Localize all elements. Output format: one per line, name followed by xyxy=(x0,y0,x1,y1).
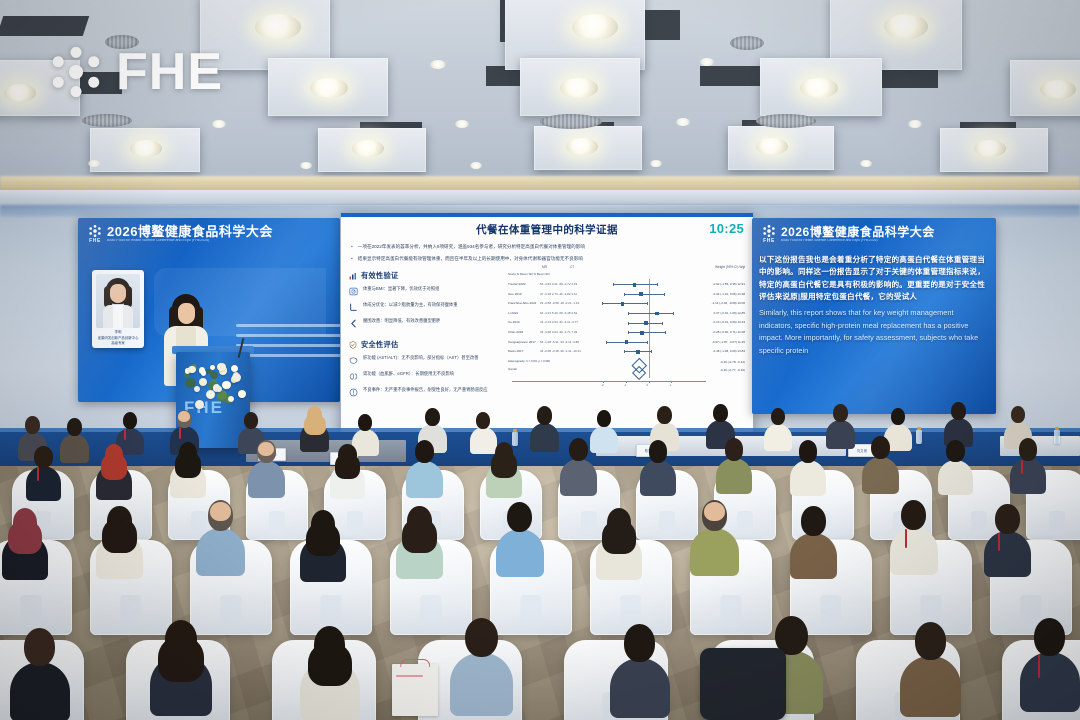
audience-head xyxy=(624,624,655,662)
audience-torso xyxy=(248,461,285,498)
audience-member xyxy=(2,508,48,578)
forest-point-estimate xyxy=(644,321,648,325)
audience-torso xyxy=(496,529,544,577)
flower-bloom xyxy=(195,400,204,409)
left-screen-header: FHE 2026博鳌健康食品科学大会 Boao Food for Health … xyxy=(78,218,340,248)
audience-torso xyxy=(690,528,739,577)
efficacy-item-3: 腰围改善：明显降低，有效改善腹型肥胖 xyxy=(349,318,501,328)
bullet-item: ▪ 一项在2022年发表的荟萃分析，共纳入9项研究，涵盖934名参与者，研究分析… xyxy=(351,243,743,251)
safety-item-text: 肾功能（血肌酐、eGFR）：长期使用无不良影响 xyxy=(363,371,454,377)
speaker-name: 李明 xyxy=(92,330,144,335)
forest-effect-value: 0.37 (-0.91, 1.09) 12.85 xyxy=(714,311,745,315)
audience-head xyxy=(24,628,55,666)
chair-sash xyxy=(420,595,441,627)
forest-study-values: 33 -3.68 3.94 -30 -3.71 7.49 xyxy=(540,330,577,334)
audience-member xyxy=(170,442,206,497)
efficacy-item-text: 腰围改善：明显降低，有效改善腹型肥胖 xyxy=(363,318,440,324)
audience-torso xyxy=(406,461,443,498)
long-hair xyxy=(158,636,204,682)
conference-title: 2026博鳌健康食品科学大会 xyxy=(107,225,273,239)
audience-head xyxy=(1034,618,1065,656)
audience-member xyxy=(790,506,837,577)
audience-torso xyxy=(10,662,70,720)
forest-ci-cap xyxy=(602,302,603,305)
chair-sash xyxy=(520,595,541,627)
audience-head xyxy=(657,406,672,424)
audience-head xyxy=(995,504,1019,534)
audience-member xyxy=(690,500,739,574)
audience-head xyxy=(358,414,372,431)
long-hair xyxy=(491,451,518,478)
long-hair xyxy=(175,451,202,478)
forest-study-values: 64 -4.31 5.40 -60 -3.48 4.51 xyxy=(540,311,577,315)
forest-ci-cap xyxy=(651,350,652,353)
long-hair xyxy=(102,518,137,553)
kidney-icon xyxy=(349,372,358,381)
speaker-affiliation-2: 高级专家 xyxy=(92,341,144,346)
flower-arrangement xyxy=(184,358,246,406)
forest-axis-tick-label: 0 xyxy=(647,383,649,387)
flower-bloom xyxy=(201,370,206,375)
audience-member xyxy=(900,622,961,714)
audience-member xyxy=(60,418,89,461)
forest-axis-tick-label: -1 xyxy=(624,383,627,387)
audience-head xyxy=(1019,438,1038,461)
speaker-portrait xyxy=(96,274,140,328)
safety-item-text: 肝功能 (AST/ALT)：无不良影响，部分指标（AST）甚至改善 xyxy=(363,355,478,361)
audience-torso xyxy=(560,459,597,496)
long-hair xyxy=(402,518,437,553)
audience-torso xyxy=(450,653,513,716)
watermark-text: FHE xyxy=(116,46,223,98)
audience-member xyxy=(330,444,365,497)
forest-ci-cap xyxy=(613,283,614,286)
audience-member xyxy=(26,446,61,499)
tote-label xyxy=(396,675,424,677)
forest-ci-cap xyxy=(662,322,663,325)
forest-effect-value: -1.14 (-2.06, -0.08) 10.06 xyxy=(712,301,745,305)
forest-point-estimate xyxy=(625,340,629,344)
forest-ci-cap xyxy=(647,341,648,344)
forest-effect-value: -0.62 (-1.55, 0.35) 12.91 xyxy=(713,282,745,286)
forest-ci-cap xyxy=(606,341,607,344)
forest-ci-cap xyxy=(624,350,625,353)
fhe-watermark: FHE xyxy=(48,44,223,100)
audience-member xyxy=(10,628,70,719)
section-title: 有效性验证 xyxy=(361,271,398,281)
audience-member xyxy=(530,406,559,451)
chair-sash xyxy=(120,595,141,627)
long-hair xyxy=(308,642,352,686)
audience-member xyxy=(984,504,1031,575)
forest-study-label: Guo 2019 xyxy=(508,292,522,296)
audience-member xyxy=(890,500,938,573)
audience-head xyxy=(951,402,966,420)
audience-member xyxy=(300,406,329,451)
caption-english: Similarly, this report shows that for ke… xyxy=(759,307,989,357)
waist-icon xyxy=(349,319,358,328)
audience-head xyxy=(34,446,52,468)
forest-effect-value: -0.48 (-1.08, 0.09) 13.84 xyxy=(713,349,745,353)
efficacy-item-1: 体重与BMI：显著下降，优效优于对照组 xyxy=(349,286,501,296)
efficacy-item-text: 体重与BMI：显著下降，优效优于对照组 xyxy=(363,286,439,292)
safety-item-3: 不良事件：无严重不良事件报告，耐受性良好，无严重胃肠道反应 xyxy=(349,387,501,397)
audience-torso xyxy=(790,460,826,496)
audience-head xyxy=(597,410,611,427)
audience-member xyxy=(406,440,443,496)
audience-head xyxy=(771,408,785,425)
audience-torso xyxy=(764,424,792,452)
audience-head xyxy=(123,412,137,429)
lanyard xyxy=(905,529,907,548)
forest-point-estimate xyxy=(655,312,659,316)
forest-summary-label: Heterogeneity: I² = 0.0%, p = 0.590 xyxy=(508,360,550,363)
conference-photo: FHE 2026博鳌健康食品科学大会 Boao Food for Health … xyxy=(0,0,1080,720)
slide-top-accent xyxy=(341,213,753,217)
chair-sash xyxy=(620,595,641,627)
audience-member xyxy=(1010,438,1046,493)
audience-member xyxy=(96,506,143,577)
forest-axis-tick xyxy=(649,381,650,383)
safety-item-2: 肾功能（血肌酐、eGFR）：长期使用无不良影响 xyxy=(349,371,501,381)
flower-bloom xyxy=(199,378,207,386)
scale-icon xyxy=(349,287,358,296)
forest-confidence-interval xyxy=(628,332,665,333)
forest-study-values: 22 -0.58 -0.58 -18 -0.21 -1.14 xyxy=(540,301,579,305)
bald-crown xyxy=(210,502,231,521)
audience-member xyxy=(96,444,132,499)
shield-icon xyxy=(349,341,357,349)
audience-head xyxy=(801,506,825,536)
forest-effect-value: -0.34 (-1.10, 0.66) 13.38 xyxy=(713,292,745,296)
audience-member xyxy=(716,438,752,493)
long-hair xyxy=(335,453,361,479)
bullet-dot-icon: ▪ xyxy=(351,255,353,263)
chair-sash xyxy=(347,511,363,535)
chair-sash xyxy=(737,511,753,535)
forest-group-header: MR xyxy=(542,265,547,269)
forest-study-values: 54 -4.54 3.21 -50 -2.72 4.19 xyxy=(540,282,577,286)
speaker-card: 李明 雀巢研发创新产品创新中心 高级专家 xyxy=(92,270,144,348)
forest-study-label: Vongsarpanon 2017 xyxy=(508,340,536,344)
fhe-logo-text: FHE xyxy=(763,239,775,244)
audience-torso xyxy=(716,458,752,494)
bullet-text: 结果显示特定高蛋白代餐能有效管理体重，而且在半年及以上的长期使用中，对身体代谢和… xyxy=(358,255,583,263)
audience-member xyxy=(764,408,792,450)
forest-ci-cap xyxy=(673,312,674,315)
bald-crown xyxy=(704,502,725,521)
audience-torso xyxy=(530,423,559,452)
audience-head xyxy=(946,440,964,462)
flower-bloom xyxy=(238,390,247,399)
bottle-cap xyxy=(917,427,921,430)
forest-point-estimate xyxy=(639,292,643,296)
forest-axis-tick-label: 1 xyxy=(669,383,671,387)
long-hair xyxy=(101,453,128,480)
forest-axis-tick-label: -2 xyxy=(601,383,604,387)
liver-icon xyxy=(349,356,358,365)
chair-sash xyxy=(220,595,241,627)
forest-study-label: Treolar 2020 xyxy=(508,282,525,286)
forest-point-estimate xyxy=(640,331,644,335)
audience-head xyxy=(425,408,440,426)
forest-ci-cap xyxy=(665,331,666,334)
audience-member xyxy=(944,402,973,445)
audience-torso xyxy=(984,531,1031,578)
conference-subtitle: Boao Food for Health Science Conference … xyxy=(107,239,273,243)
audience-member xyxy=(450,618,513,713)
bottle-cap xyxy=(513,429,517,432)
forest-ci-cap xyxy=(628,312,629,315)
audience-member xyxy=(196,500,245,574)
forest-summary-value: -0.46 (-0.78, -0.14) xyxy=(720,360,745,364)
efficacy-item-text: 体成分优化：以减少脂肪量为主，有效保持瘦体重 xyxy=(363,302,458,308)
forest-effect-value: -0.97 (-1.87, -0.07) 11.45 xyxy=(712,340,745,344)
audience-member xyxy=(486,442,522,497)
slide-title: 代餐在体重管理中的科学证据 xyxy=(341,222,753,237)
audience-member xyxy=(640,440,676,495)
audience-member xyxy=(300,510,346,580)
audience-head xyxy=(649,440,668,463)
audience-member xyxy=(560,438,597,494)
audience-member xyxy=(496,502,544,575)
flower-bloom xyxy=(232,373,241,382)
forest-effect-header: Weight (95% CI) Wgt xyxy=(715,265,745,269)
forest-axis xyxy=(512,381,706,382)
bottle-cap xyxy=(1055,427,1059,430)
bullet-dot-icon: ▪ xyxy=(351,243,353,251)
flower-bloom xyxy=(217,363,226,372)
audience-torso xyxy=(196,528,245,577)
audience-member xyxy=(1020,618,1080,709)
audience-torso xyxy=(1010,458,1046,494)
speaker-bio-text xyxy=(236,324,340,364)
flower-bloom xyxy=(206,390,215,399)
section-header-safety: 安全性评估 xyxy=(349,340,501,350)
live-caption-area: 以下这份报告我也是会着重分析了特定的高蛋白代餐在体重管理当中的影响。同样这一份报… xyxy=(752,254,996,357)
audience-head xyxy=(244,412,258,429)
audience-member xyxy=(150,620,212,714)
audience-torso xyxy=(26,466,61,501)
flower-bloom xyxy=(188,366,196,374)
forest-confidence-interval xyxy=(628,313,674,314)
chair-sash xyxy=(820,595,841,627)
flower-bloom xyxy=(231,365,238,372)
audience-head xyxy=(465,618,498,657)
forest-ci-cap xyxy=(624,293,625,296)
forest-study-values: 41 -2.08 -3.18 -30 -1.41 -10.41 xyxy=(540,349,581,353)
water-bottle xyxy=(1054,430,1060,444)
chair-sash xyxy=(20,595,41,627)
forest-study-label: Franchina Albo 2022 xyxy=(508,301,536,305)
audience-torso xyxy=(890,527,938,575)
forest-ci-cap xyxy=(664,293,665,296)
caption-chinese: 以下这份报告我也是会着重分析了特定的高蛋白代餐在体重管理当中的影响。同样这一份报… xyxy=(759,254,989,303)
forest-ci-cap xyxy=(657,283,658,286)
audience-head xyxy=(569,438,588,461)
audience-torso xyxy=(60,434,89,463)
audience-member xyxy=(610,624,670,715)
audience-member xyxy=(596,508,642,578)
backpack xyxy=(700,648,786,720)
audience-head xyxy=(901,500,926,530)
audience-head xyxy=(833,404,848,422)
bullet-item: ▪ 结果显示特定高蛋白代餐能有效管理体重，而且在半年及以上的长期使用中，对身体代… xyxy=(351,255,743,263)
forest-point-estimate xyxy=(636,350,640,354)
forest-point-estimate xyxy=(621,302,625,306)
fhe-molecule-logo-icon xyxy=(48,44,104,100)
forest-group-header: CT xyxy=(570,265,574,269)
chair-sash xyxy=(659,511,675,535)
audience-member xyxy=(396,506,443,577)
efficacy-item-2: 体成分优化：以减少脂肪量为主，有效保持瘦体重 xyxy=(349,302,501,312)
ceiling xyxy=(0,0,1080,210)
audience-member xyxy=(300,626,360,717)
lanyard xyxy=(998,533,1000,551)
right-screen-header: FHE 2026博鳌健康食品科学大会 Boao Food for Health … xyxy=(752,218,996,248)
audience-torso xyxy=(826,420,855,449)
forest-axis-tick xyxy=(671,381,672,383)
long-hair xyxy=(304,414,326,436)
audience-head xyxy=(1011,406,1025,423)
audience-torso xyxy=(938,460,973,495)
audience-head xyxy=(891,408,905,425)
forest-study-values: 41 -3.13 4.54 -31 -3.11 -3.77 xyxy=(540,320,578,324)
forest-effect-value: -0.28 (-0.90, 0.71) 12.08 xyxy=(713,330,745,334)
audience-head xyxy=(67,418,82,436)
forest-ci-cap xyxy=(647,302,648,305)
fhe-logo-text: FHE xyxy=(89,239,101,244)
audience-head xyxy=(871,436,890,459)
safety-item-text: 不良事件：无严重不良事件报告，耐受性良好，无严重胃肠道反应 xyxy=(363,387,488,393)
bar-chart-icon xyxy=(349,272,357,280)
tote-bag xyxy=(392,664,438,716)
forest-study-values: 54 -1.08 -5.31 -33 -3.11 -3.86 xyxy=(540,340,579,344)
right-subtitle-screen[interactable]: FHE 2026博鳌健康食品科学大会 Boao Food for Health … xyxy=(752,218,996,414)
forest-study-label: Li 2021 xyxy=(508,311,518,315)
audience-head xyxy=(537,406,552,425)
presentation-timer: 10:25 xyxy=(709,221,744,236)
audience-member xyxy=(826,404,855,447)
forest-summary-label: Overall xyxy=(508,368,517,371)
flower-bloom xyxy=(194,386,200,392)
audience-member xyxy=(248,440,285,496)
forest-study-label: Davis 2017 xyxy=(508,349,523,353)
audience-member xyxy=(938,440,973,493)
lanyard xyxy=(179,427,181,438)
audience-head xyxy=(915,622,947,660)
flower-bloom xyxy=(222,381,230,389)
audience-torso xyxy=(790,533,837,580)
audience-torso xyxy=(862,457,899,494)
flower-leaf xyxy=(210,371,218,379)
lanyard xyxy=(1038,654,1040,677)
water-bottle xyxy=(916,430,922,444)
audience-head xyxy=(476,412,490,429)
lanyard xyxy=(1021,460,1023,474)
audience-head xyxy=(713,404,728,422)
forest-ci-cap xyxy=(628,322,629,325)
audience-torso xyxy=(610,658,670,718)
forest-column-headers: Study N Mean SD N Mean SD xyxy=(508,272,550,276)
conference-subtitle: Boao Food for Health Science Conference … xyxy=(781,239,935,243)
audience-torso xyxy=(1020,652,1080,712)
section-title: 安全性评估 xyxy=(361,340,398,350)
chair-sash xyxy=(581,511,597,535)
forest-summary-value: -0.46 (-0.77, -0.16) xyxy=(720,368,745,372)
audience-member xyxy=(862,436,899,492)
fhe-logo-icon: FHE xyxy=(88,224,102,244)
forest-confidence-interval xyxy=(624,294,664,295)
forest-point-estimate xyxy=(633,283,637,287)
chair-sash xyxy=(320,595,341,627)
audience-head xyxy=(799,440,818,463)
flower-bloom xyxy=(228,396,234,402)
chair-sash xyxy=(1049,511,1065,535)
audience-head xyxy=(25,416,40,434)
conference-title: 2026博鳌健康食品科学大会 xyxy=(781,226,935,239)
section-header-efficacy: 有效性验证 xyxy=(349,271,501,281)
tote-handle xyxy=(400,659,430,667)
safety-item-1: 肝功能 (AST/ALT)：无不良影响，部分指标（AST）甚至改善 xyxy=(349,355,501,365)
lanyard xyxy=(37,467,39,481)
safety-icon xyxy=(349,388,358,397)
slide-bullets: ▪ 一项在2022年发表的荟萃分析，共纳入9项研究，涵盖934名参与者，研究分析… xyxy=(351,243,743,267)
flower-bloom xyxy=(210,365,215,370)
forest-effect-value: -0.13 (-0.91, 0.60) 13.43 xyxy=(713,320,745,324)
audience-member xyxy=(790,440,826,495)
long-hair xyxy=(306,522,340,556)
forest-study-label: Xu 2019 xyxy=(508,320,520,324)
bullet-text: 一项在2022年发表的荟萃分析，共纳入9项研究，涵盖934名参与者，研究分析特定… xyxy=(358,243,585,251)
bald-crown xyxy=(258,442,274,456)
audience-torso xyxy=(900,656,961,717)
audience-head xyxy=(725,438,744,461)
forest-study-label: Chan 2018 xyxy=(508,330,523,334)
body-composition-icon xyxy=(349,303,358,312)
audience-head xyxy=(507,502,532,532)
long-hair xyxy=(8,520,42,554)
chair-sash xyxy=(269,511,285,535)
forest-ci-cap xyxy=(628,331,629,334)
fhe-logo-icon: FHE xyxy=(762,224,776,244)
audience-head xyxy=(415,440,434,463)
chair-sash xyxy=(720,595,741,627)
forest-study-values: 47 -3.18 2.74 -46 -1.82 3.11 xyxy=(540,292,577,296)
long-hair xyxy=(602,520,636,554)
audience-torso xyxy=(640,460,676,496)
